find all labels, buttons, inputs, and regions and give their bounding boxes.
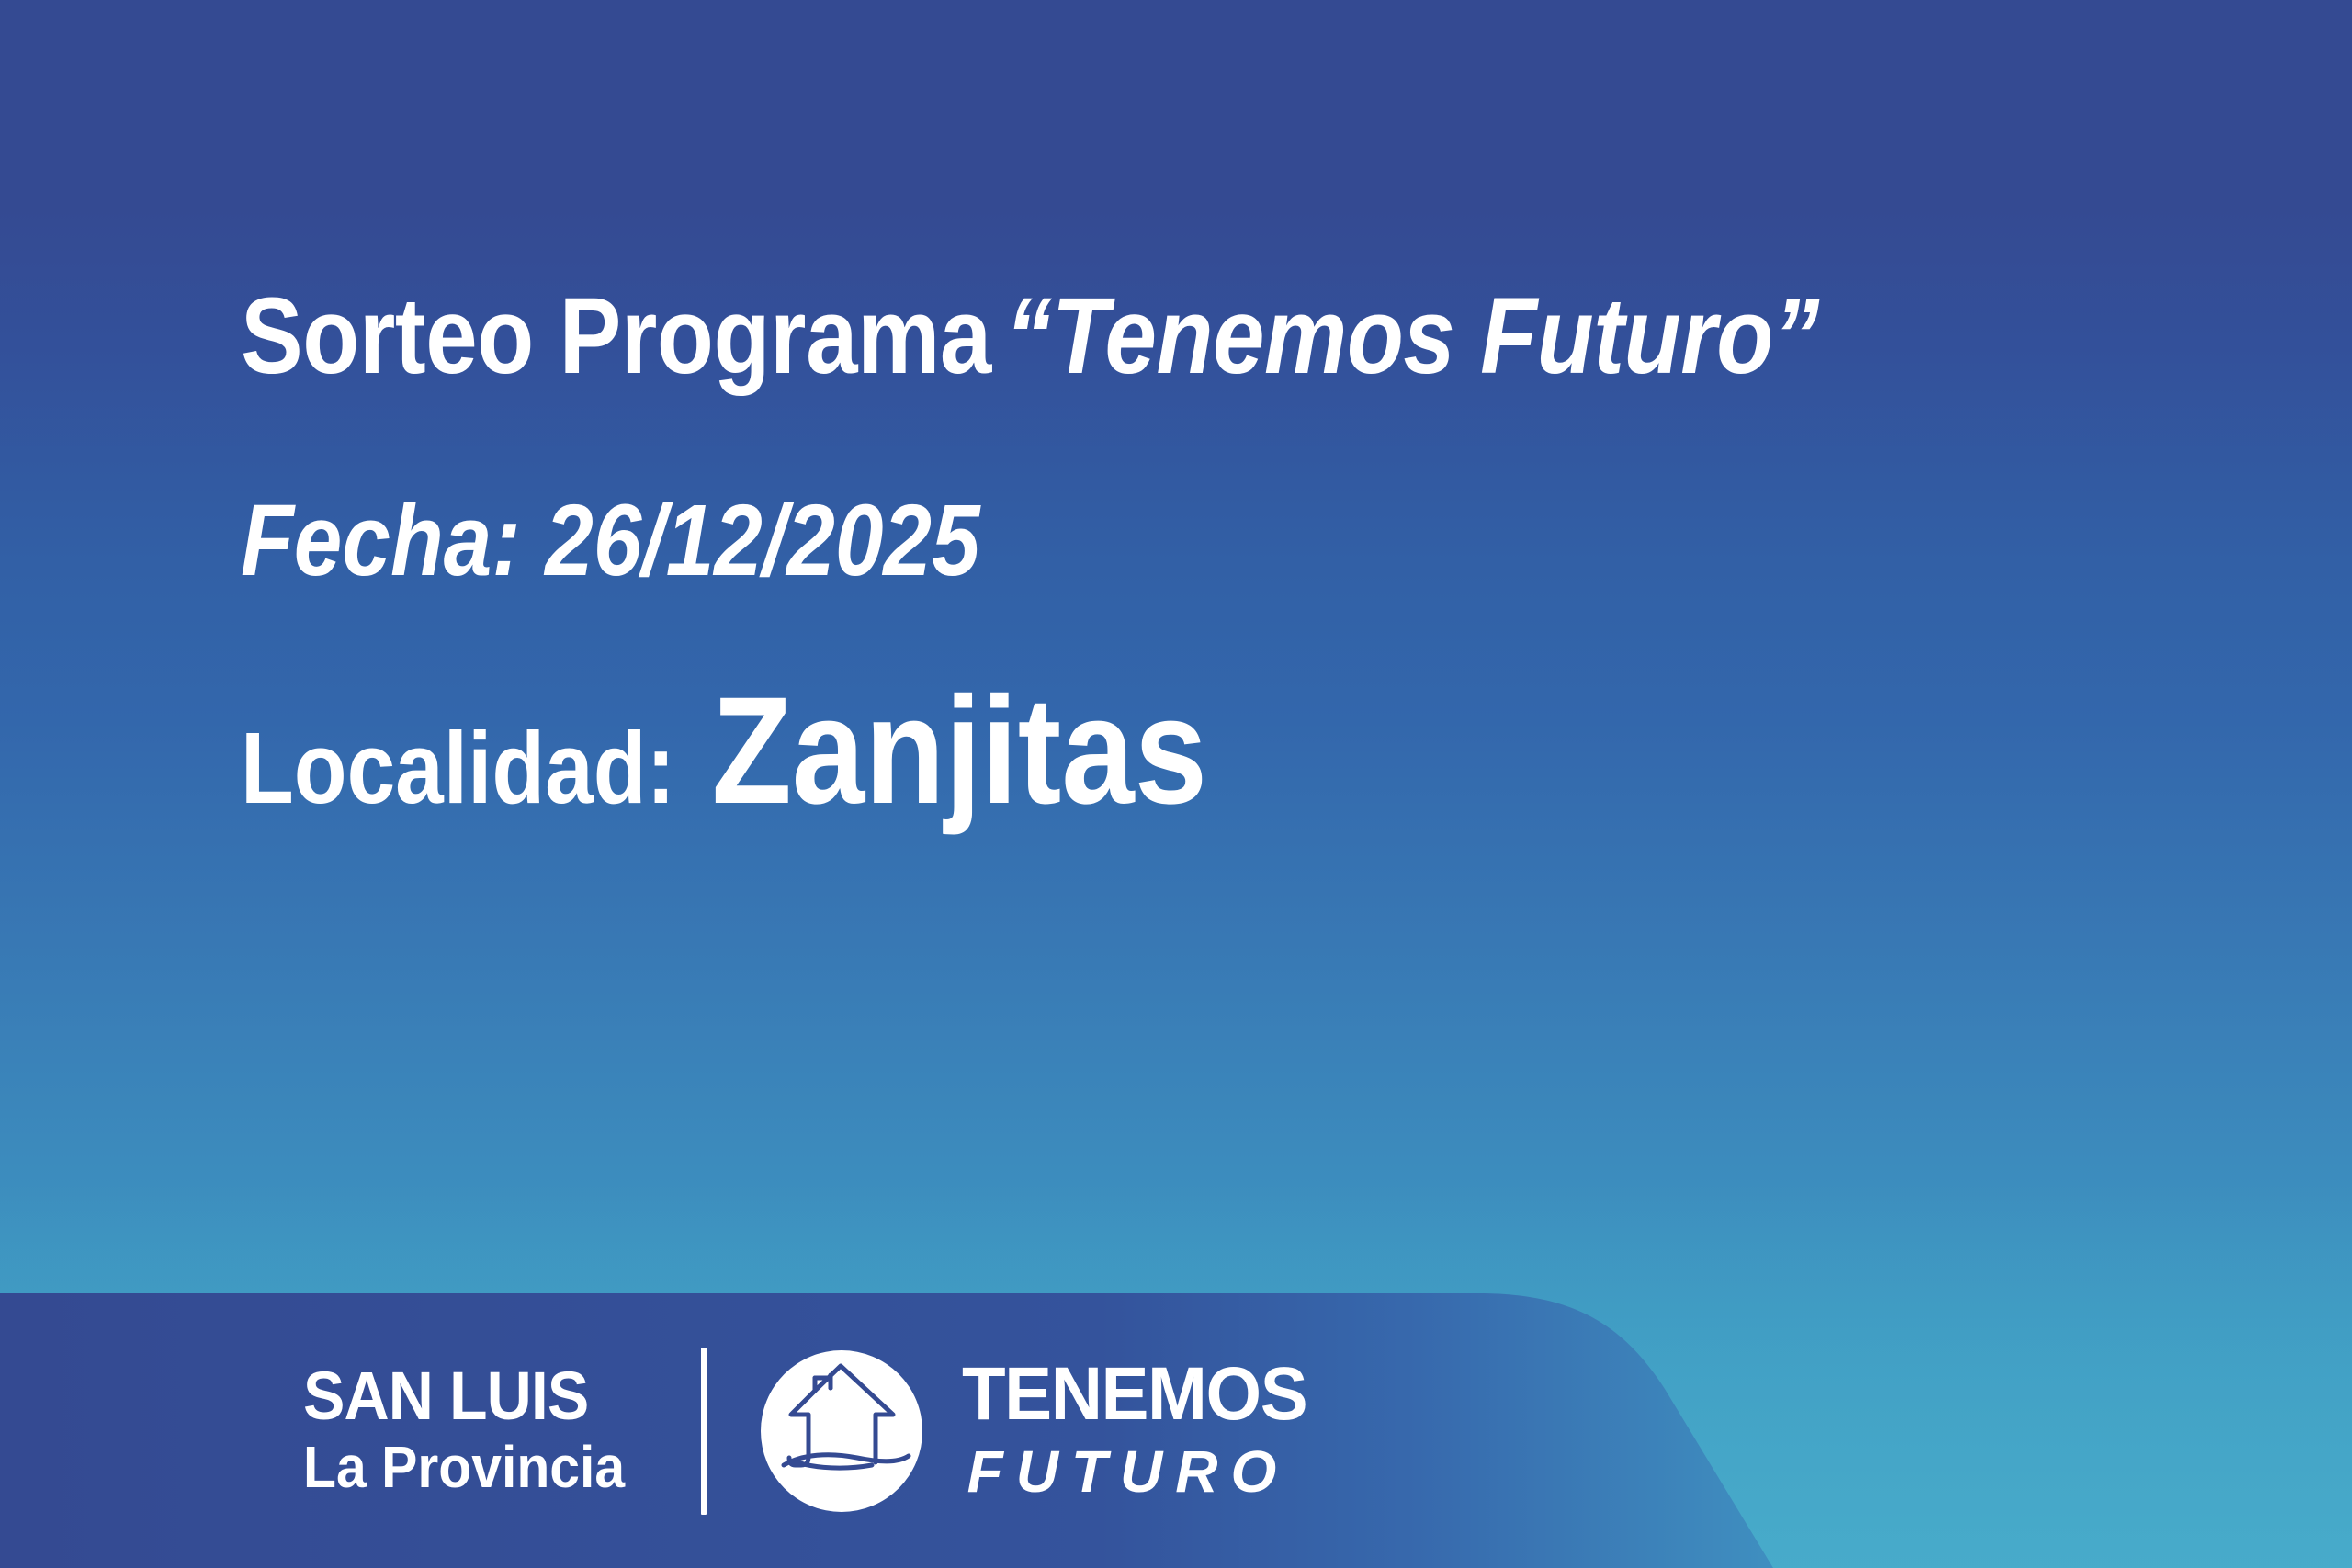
locality-row: Localidad: Zanjitas xyxy=(241,675,1963,828)
title-quoted-text: “Tenemos Futuro” xyxy=(1005,276,1819,397)
san-luis-lockup: SAN LUIS La Provincia xyxy=(303,1362,653,1499)
locality-label: Localidad: xyxy=(241,718,675,819)
title-main-text: Sorteo Programa xyxy=(241,276,991,397)
footer-logo-row: SAN LUIS La Provincia TENEMOS xyxy=(303,1293,1325,1568)
program-subtitle: FUTURO xyxy=(967,1439,1325,1506)
draw-date: Fecha: 26/12/2025 xyxy=(241,485,1963,596)
tenemos-futuro-lockup: TENEMOS FUTURO xyxy=(962,1357,1325,1506)
province-subtitle: La Provincia xyxy=(303,1436,625,1499)
slide-canvas: Sorteo Programa“Tenemos Futuro” Fecha: 2… xyxy=(0,0,2352,1568)
page-title: Sorteo Programa“Tenemos Futuro” xyxy=(241,276,1963,397)
province-name: SAN LUIS xyxy=(303,1362,625,1430)
locality-value: Zanjitas xyxy=(712,675,1207,828)
vertical-divider xyxy=(701,1348,707,1515)
house-outline-icon xyxy=(758,1348,925,1515)
headline-block: Sorteo Programa“Tenemos Futuro” Fecha: 2… xyxy=(241,276,2244,828)
program-name: TENEMOS xyxy=(962,1357,1306,1432)
